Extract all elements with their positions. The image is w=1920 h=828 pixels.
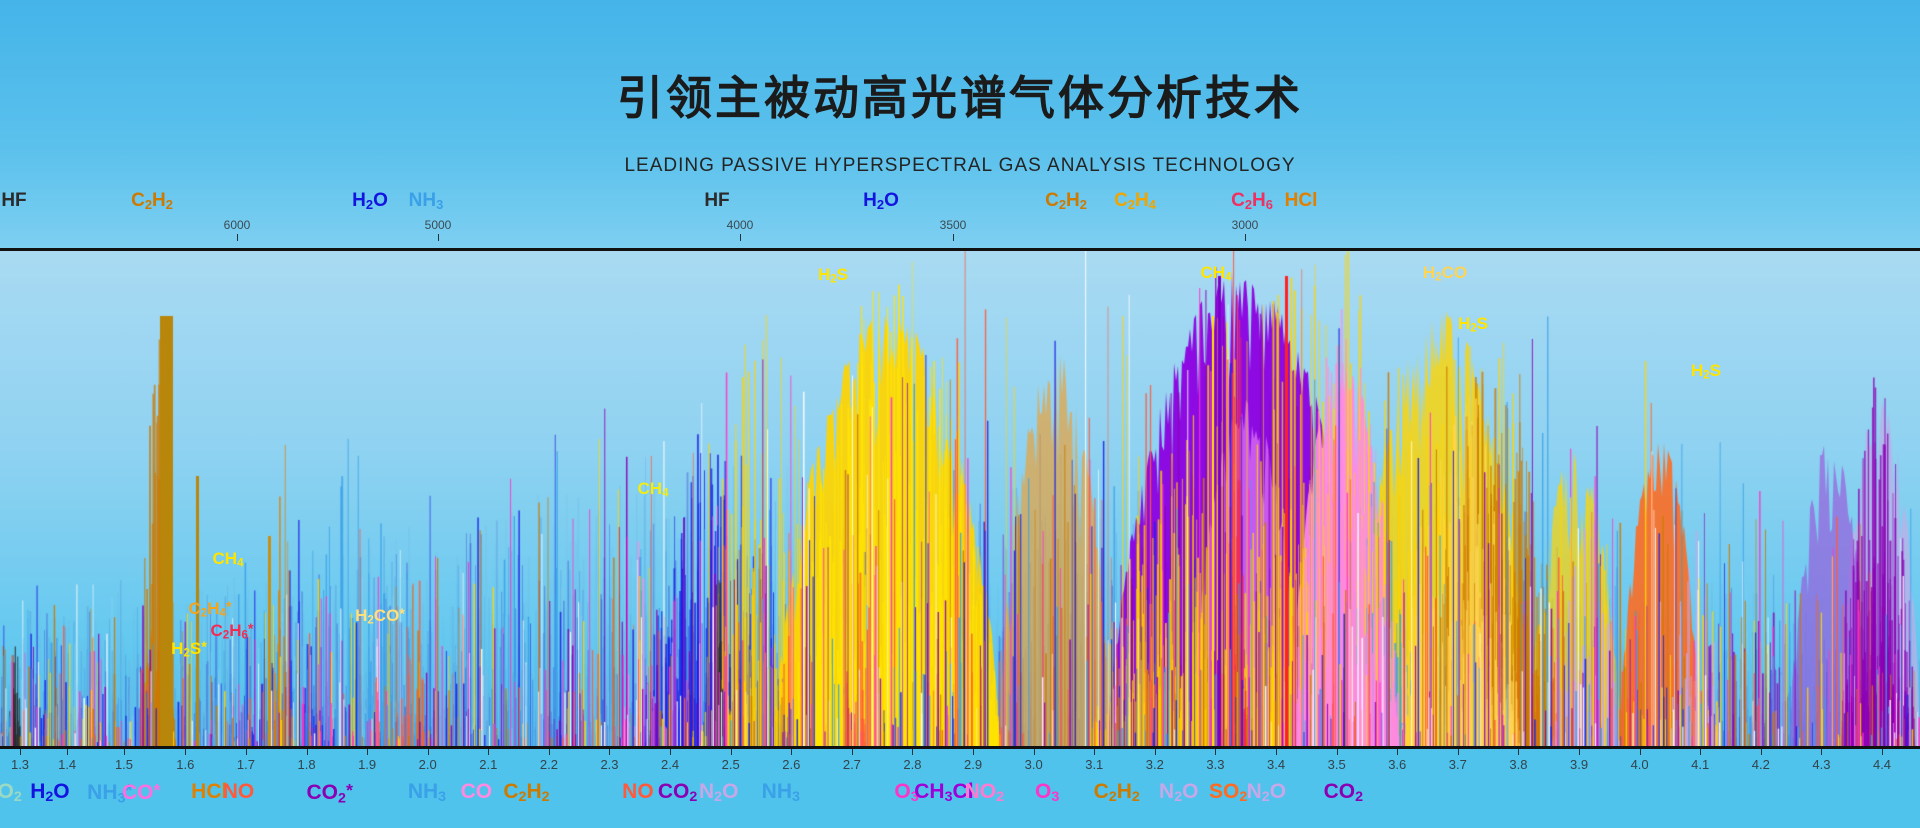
plot-species-label: C2H4* — [188, 599, 231, 620]
bottom-axis-species-label: O3 — [1035, 780, 1059, 805]
bottom-axis-tick — [609, 749, 610, 755]
bottom-axis-tick-label: 1.7 — [237, 757, 255, 772]
top-axis-tick — [1245, 234, 1246, 241]
top-axis-tick-label: 5000 — [425, 218, 452, 232]
bottom-axis-tick — [67, 749, 68, 755]
bottom-axis-tick-label: 3.6 — [1388, 757, 1406, 772]
top-axis-tick-label: 3500 — [940, 218, 967, 232]
page-title: 引领主被动高光谱气体分析技术 — [0, 62, 1920, 128]
bottom-axis-tick-label: 1.8 — [297, 757, 315, 772]
bottom-axis-tick-label: 2.6 — [782, 757, 800, 772]
bottom-axis-tick-label: 1.6 — [176, 757, 194, 772]
bottom-axis-tick — [1761, 749, 1762, 755]
bottom-axis-tick-label: 4.4 — [1873, 757, 1891, 772]
bottom-axis-species-label: C2H2 — [1094, 780, 1140, 805]
bottom-axis-tick-label: 3.5 — [1328, 757, 1346, 772]
top-axis-species-label: C2H2 — [131, 190, 173, 212]
bottom-axis-tick — [124, 749, 125, 755]
bottom-axis-tick-label: 3.3 — [1206, 757, 1224, 772]
bottom-axis-tick — [852, 749, 853, 755]
bottom-axis-tick-label: 2.2 — [540, 757, 558, 772]
bottom-axis-species-label: C2H2 — [503, 780, 549, 805]
bottom-axis-tick — [1640, 749, 1641, 755]
bottom-axis-tick-label: 3.9 — [1570, 757, 1588, 772]
bottom-axis-tick-label: 2.4 — [661, 757, 679, 772]
bottom-axis-tick-label: 4.0 — [1631, 757, 1649, 772]
bottom-axis-tick — [549, 749, 550, 755]
top-axis-species-label: H2O — [863, 190, 899, 212]
top-axis-species-label: H2O — [352, 190, 388, 212]
bottom-axis-tick-label: 2.3 — [600, 757, 618, 772]
top-axis-tick-label: 3000 — [1232, 218, 1259, 232]
bottom-axis-species-label: CO2 — [658, 780, 697, 805]
bottom-axis-tick — [791, 749, 792, 755]
bottom-axis-tick-label: 3.8 — [1509, 757, 1527, 772]
bottom-axis-tick — [1337, 749, 1338, 755]
bottom-axis-tick — [1094, 749, 1095, 755]
bottom-axis-tick — [1276, 749, 1277, 755]
bottom-axis-tick-label: 3.0 — [1025, 757, 1043, 772]
spectrum-plot: H2SCH4H2COH2SH2SCH4CH4C2H4*C2H6*H2S*H2CO… — [0, 251, 1920, 746]
bottom-axis-species-label: NH3 — [762, 780, 800, 805]
top-axis-tick — [438, 234, 439, 241]
bottom-axis-species-label: SO2 — [1209, 780, 1247, 805]
top-axis-species-label: HCl — [1285, 190, 1318, 212]
bottom-axis-tick — [1821, 749, 1822, 755]
bottom-axis-tick-label: 1.3 — [11, 757, 29, 772]
top-axis-species-label: HF — [704, 190, 729, 212]
page-subtitle: LEADING PASSIVE HYPERSPECTRAL GAS ANALYS… — [0, 155, 1920, 177]
plot-species-label: H2S — [818, 265, 848, 286]
bottom-axis-tick-label: 4.1 — [1691, 757, 1709, 772]
top-axis-tick — [237, 234, 238, 241]
bottom-axis-tick — [367, 749, 368, 755]
bottom-axis-tick — [670, 749, 671, 755]
bottom-axis-tick — [1882, 749, 1883, 755]
plot-species-label: H2CO — [1423, 263, 1467, 284]
bottom-axis-species-label: N2O — [699, 780, 738, 805]
bottom-axis-tick-label: 2.0 — [419, 757, 437, 772]
bottom-axis-tick — [731, 749, 732, 755]
bottom-axis: 1.31.41.51.61.71.81.92.02.12.22.32.42.52… — [0, 749, 1920, 828]
bottom-axis-species-label: CO2 — [1324, 780, 1363, 805]
top-axis-tick — [953, 234, 954, 241]
bottom-axis-tick-label: 2.8 — [903, 757, 921, 772]
plot-species-label: CH4 — [638, 479, 669, 500]
bottom-axis-species-label: NO2 — [965, 780, 1004, 805]
bottom-axis-species-label: NO — [622, 780, 654, 804]
bottom-axis-tick — [428, 749, 429, 755]
bottom-axis-tick — [1458, 749, 1459, 755]
bottom-axis-species-label: H2O — [30, 780, 69, 805]
bottom-axis-species-label: NO — [223, 780, 255, 804]
plot-species-label: H2S — [1458, 314, 1488, 335]
plot-species-label: H2S* — [171, 639, 207, 660]
plot-species-label: H2S — [1691, 361, 1721, 382]
top-axis-species-label: C2H2 — [1045, 190, 1087, 212]
bottom-axis-tick — [1215, 749, 1216, 755]
bottom-axis-tick — [1034, 749, 1035, 755]
bottom-axis-tick-label: 3.7 — [1449, 757, 1467, 772]
bottom-axis-tick-label: 1.9 — [358, 757, 376, 772]
bottom-axis-tick-label: 3.1 — [1085, 757, 1103, 772]
bottom-axis-tick-label: 4.3 — [1812, 757, 1830, 772]
bottom-axis-species-label: NH3 — [408, 780, 446, 805]
bottom-axis-tick — [488, 749, 489, 755]
bottom-axis-tick — [1579, 749, 1580, 755]
top-axis: HFC2H2H2ONH3HFH2OC2H2C2H4C2H6HCl60005000… — [0, 190, 1920, 256]
bottom-axis-tick-label: 2.1 — [479, 757, 497, 772]
bottom-axis-tick-label: 1.4 — [58, 757, 76, 772]
bottom-axis-tick — [912, 749, 913, 755]
bottom-axis-tick-label: 2.9 — [964, 757, 982, 772]
bottom-axis-tick — [1518, 749, 1519, 755]
bottom-axis-species-label: CO2 — [0, 780, 22, 805]
bottom-axis-tick — [1155, 749, 1156, 755]
top-axis-tick-label: 6000 — [224, 218, 251, 232]
bottom-axis-species-label: CO — [461, 780, 493, 804]
plot-species-label: CH4 — [1201, 263, 1232, 284]
bottom-axis-tick-label: 3.4 — [1267, 757, 1285, 772]
top-axis-species-label: NH3 — [409, 190, 444, 212]
top-axis-species-label: C2H6 — [1231, 190, 1273, 212]
bottom-axis-tick-label: 3.2 — [1146, 757, 1164, 772]
bottom-axis-tick-label: 2.7 — [843, 757, 861, 772]
bottom-axis-species-label: CO2* — [307, 780, 353, 806]
bottom-axis-tick — [307, 749, 308, 755]
bottom-axis-tick — [20, 749, 21, 755]
bottom-axis-species-label: N2O — [1247, 780, 1286, 805]
bottom-axis-species-label: N2O — [1159, 780, 1198, 805]
bottom-axis-tick — [1397, 749, 1398, 755]
plot-species-label: C2H6* — [210, 621, 253, 642]
plot-species-label: CH4 — [213, 549, 244, 570]
top-axis-species-label: HF — [1, 190, 26, 212]
bottom-axis-tick — [246, 749, 247, 755]
bottom-axis-tick — [185, 749, 186, 755]
spectrum-canvas — [0, 251, 1920, 746]
top-axis-tick — [740, 234, 741, 241]
bottom-axis-tick — [1700, 749, 1701, 755]
plot-species-label: H2CO* — [355, 606, 405, 627]
bottom-axis-tick-label: 2.5 — [722, 757, 740, 772]
bottom-axis-tick-label: 1.5 — [115, 757, 133, 772]
top-axis-species-label: C2H4 — [1114, 190, 1156, 212]
bottom-axis-tick-label: 4.2 — [1752, 757, 1770, 772]
bottom-axis-tick — [973, 749, 974, 755]
top-axis-tick-label: 4000 — [727, 218, 754, 232]
bottom-axis-species-label: CO* — [122, 780, 160, 805]
